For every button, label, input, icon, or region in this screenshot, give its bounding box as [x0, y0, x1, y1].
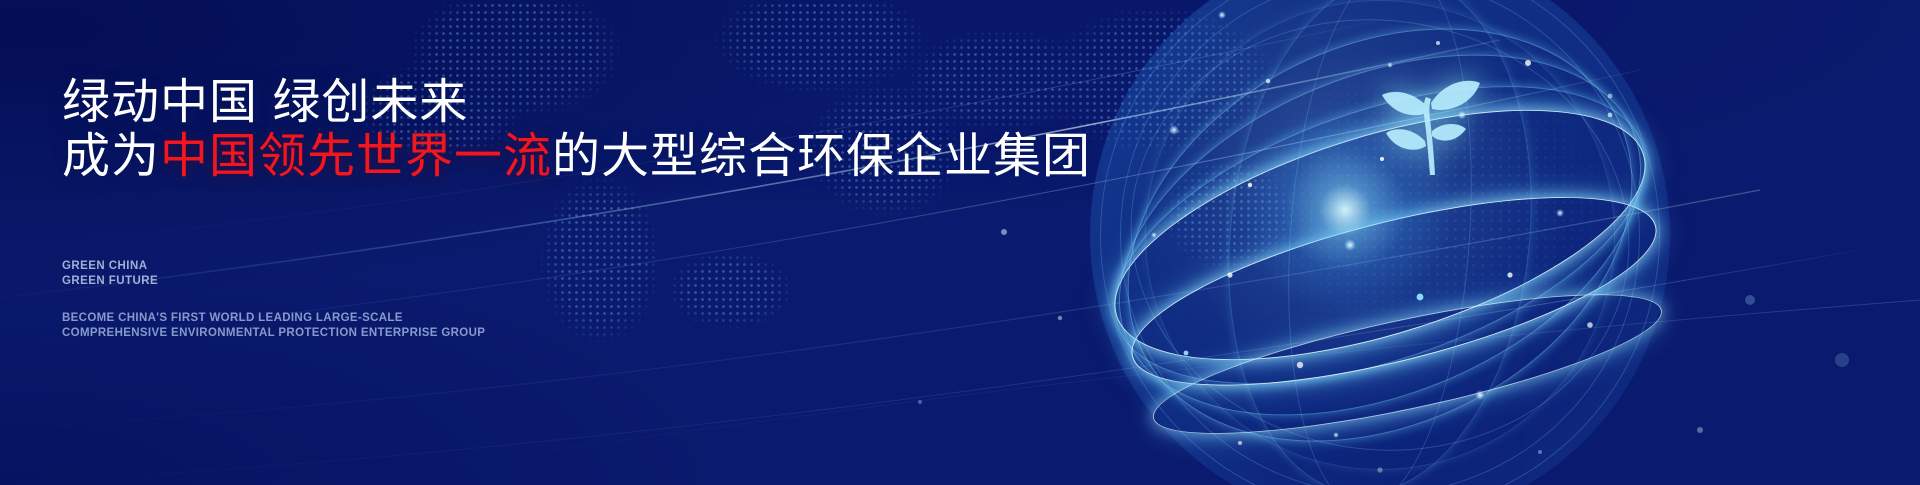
motto-line-2: GREEN FUTURE — [62, 274, 158, 289]
headline-suffix: 的大型综合环保企业集团 — [552, 130, 1091, 183]
orbit-ring — [1076, 26, 1683, 443]
orbit-ring — [1115, 158, 1673, 424]
orbit-ring — [1271, 0, 1489, 485]
orbit-ring — [1059, 0, 1702, 485]
orbit-ring — [1145, 0, 1615, 470]
orbit-ring — [1120, 0, 1640, 485]
light-flare — [1230, 95, 1460, 325]
orbit-ring — [1204, 0, 1557, 485]
hero-banner: 绿动中国 绿创未来 成为中国领先世界一流的大型综合环保企业集团 GREEN CH… — [0, 0, 1920, 485]
headline-line-2: 成为中国领先世界一流的大型综合环保企业集团 — [62, 132, 1091, 182]
globe-particles — [1090, 0, 1670, 485]
subtitle-line-2: COMPREHENSIVE ENVIRONMENTAL PROTECTION E… — [62, 326, 485, 341]
hexagon-texture — [1100, 0, 1720, 420]
headline-line-1: 绿动中国 绿创未来 — [62, 78, 468, 128]
subtitle-line-1: BECOME CHINA'S FIRST WORLD LEADING LARGE… — [62, 311, 485, 326]
orbit-ring — [1087, 59, 1673, 412]
orbit-ring — [1066, 0, 1694, 485]
globe-core — [1090, 0, 1670, 485]
headline-prefix: 成为 — [62, 130, 160, 183]
orbit-ring — [1100, 0, 1660, 485]
globe-orbit-graphic — [1090, 0, 1670, 485]
headline-highlight: 中国领先世界一流 — [160, 130, 552, 183]
text-block: 绿动中国 绿创未来 成为中国领先世界一流的大型综合环保企业集团 GREEN CH… — [62, 0, 1062, 485]
sprout-leaf-icon — [1368, 63, 1488, 183]
orbit-ring — [1144, 266, 1671, 462]
english-subtitle: BECOME CHINA'S FIRST WORLD LEADING LARGE… — [62, 311, 485, 342]
english-motto: GREEN CHINA GREEN FUTURE — [62, 259, 158, 290]
motto-line-1: GREEN CHINA — [62, 259, 158, 274]
orbit-ring — [1103, 0, 1658, 483]
